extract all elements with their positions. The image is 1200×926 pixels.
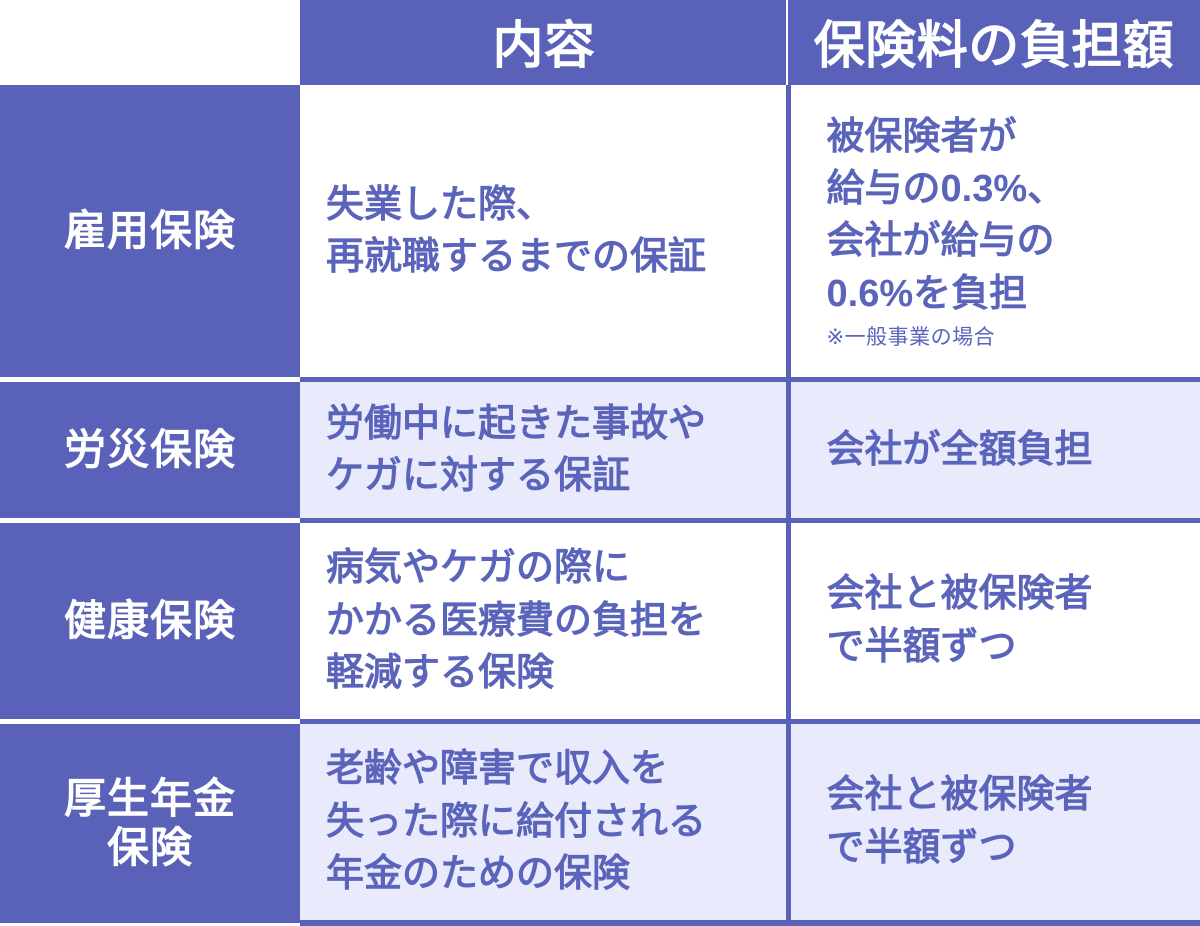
- premium-line: 0.6%を負担: [827, 268, 1191, 320]
- content-line: ケガに対する保証: [326, 450, 776, 502]
- premium-cell-health-insurance: 会社と被保険者 で半額ずつ: [788, 520, 1200, 721]
- content-cell-employees-pension-insurance: 老齢や障害で収入を 失った際に給付される 年金のための保険: [300, 721, 788, 923]
- header-cell-premium: 保険料の負担額: [788, 0, 1200, 85]
- content-cell-employment-insurance: 失業した際、 再就職するまでの保証: [300, 85, 788, 380]
- premium-line: 会社が給与の: [827, 215, 1191, 267]
- premium-cell-employees-pension-insurance: 会社と被保険者 で半額ずつ: [788, 721, 1200, 923]
- table-header: 内容 保険料の負担額: [0, 0, 1200, 85]
- premium-line: 会社と被保険者: [827, 769, 1191, 821]
- row-label-line: 厚生年金: [6, 774, 294, 824]
- content-line: 失った際に給付される: [326, 796, 776, 848]
- premium-line: 給与の0.3%、: [827, 163, 1191, 215]
- row-label-line: 健康保険: [6, 596, 294, 646]
- premium-line: で半額ずつ: [827, 822, 1191, 874]
- table-body: 雇用保険 失業した際、 再就職するまでの保証 被保険者が 給与の0.3%、 会社…: [0, 85, 1200, 923]
- content-line: 老齢や障害で収入を: [326, 743, 776, 795]
- header-row: 内容 保険料の負担額: [0, 0, 1200, 85]
- row-label-workers-accident-insurance: 労災保険: [0, 380, 300, 521]
- premium-cell-employment-insurance: 被保険者が 給与の0.3%、 会社が給与の 0.6%を負担 ※一般事業の場合: [788, 85, 1200, 380]
- table-row-workers-accident-insurance: 労災保険 労働中に起きた事故や ケガに対する保証 会社が全額負担: [0, 380, 1200, 521]
- premium-cell-workers-accident-insurance: 会社が全額負担: [788, 380, 1200, 521]
- content-line: 再就職するまでの保証: [326, 231, 776, 283]
- content-line: 病気やケガの際に: [326, 542, 776, 594]
- content-line: 労働中に起きた事故や: [326, 398, 776, 450]
- row-label-employees-pension-insurance: 厚生年金 保険: [0, 721, 300, 923]
- table-row-employment-insurance: 雇用保険 失業した際、 再就職するまでの保証 被保険者が 給与の0.3%、 会社…: [0, 85, 1200, 380]
- content-line: 年金のための保険: [326, 848, 776, 900]
- content-line: 軽減する保険: [326, 647, 776, 699]
- premium-line: で半額ずつ: [827, 621, 1191, 673]
- content-line: 失業した際、: [326, 179, 776, 231]
- content-cell-workers-accident-insurance: 労働中に起きた事故や ケガに対する保証: [300, 380, 788, 521]
- premium-footnote: ※一般事業の場合: [827, 324, 1191, 351]
- row-label-line: 保険: [6, 823, 294, 873]
- table-row-health-insurance: 健康保険 病気やケガの際に かかる医療費の負担を 軽減する保険 会社と被保険者 …: [0, 520, 1200, 721]
- row-label-line: 雇用保険: [6, 206, 294, 256]
- row-label-health-insurance: 健康保険: [0, 520, 300, 721]
- insurance-comparison-table: 内容 保険料の負担額 雇用保険 失業した際、 再就職するまでの保証 被保険者が …: [0, 0, 1200, 926]
- row-label-line: 労災保険: [6, 425, 294, 475]
- content-line: かかる医療費の負担を: [326, 595, 776, 647]
- premium-line: 会社が全額負担: [827, 424, 1191, 476]
- content-cell-health-insurance: 病気やケガの際に かかる医療費の負担を 軽減する保険: [300, 520, 788, 721]
- premium-line: 会社と被保険者: [827, 568, 1191, 620]
- premium-line: 被保険者が: [827, 111, 1191, 163]
- header-cell-blank: [0, 0, 300, 85]
- table-row-employees-pension-insurance: 厚生年金 保険 老齢や障害で収入を 失った際に給付される 年金のための保険 会社…: [0, 721, 1200, 923]
- insurance-comparison-table-container: 内容 保険料の負担額 雇用保険 失業した際、 再就職するまでの保証 被保険者が …: [0, 0, 1200, 926]
- header-cell-content: 内容: [300, 0, 788, 85]
- row-label-employment-insurance: 雇用保険: [0, 85, 300, 380]
